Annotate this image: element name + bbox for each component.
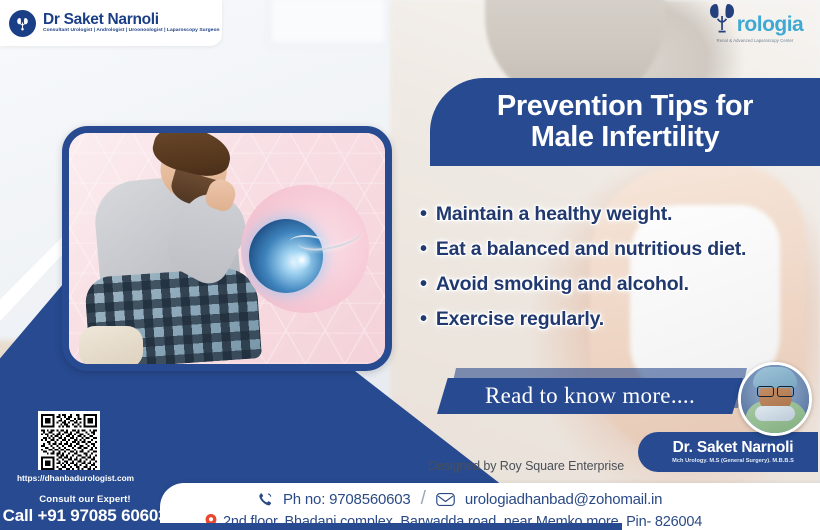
kidney-logo-icon: [9, 10, 36, 37]
doctor-avatar: [738, 362, 812, 436]
bullet-icon: •: [420, 274, 427, 294]
doctor-name: Dr. Saket Narnoli: [673, 440, 794, 456]
surgical-mask-icon: [755, 406, 795, 421]
title-line-2: Male Infertility: [531, 122, 720, 153]
cta-heading: Consult our Expert!: [39, 494, 130, 505]
title-line-1: Prevention Tips for: [497, 91, 753, 122]
sperm-egg-illustration: [241, 185, 369, 313]
doctor-degrees: Mch Urology. M.S (General Surgery). M.B.…: [672, 458, 794, 464]
poster-root: Dr Saket Narnoli Consultant Urologist | …: [0, 0, 820, 530]
doctor-name-badge: Dr. Saket Narnoli Mch Urology. M.S (Gene…: [638, 432, 818, 472]
tip-item: • Exercise regularly.: [420, 308, 820, 331]
bullet-icon: •: [420, 309, 427, 329]
clinic-logo-word: rologia: [737, 16, 804, 35]
tip-item: • Eat a balanced and nutritious diet.: [420, 238, 820, 261]
envelope-icon: [436, 492, 455, 507]
tip-text: Exercise regularly.: [436, 308, 604, 331]
design-credit: Designed by Roy Square Enterprise: [428, 459, 624, 473]
tip-text: Eat a balanced and nutritious diet.: [436, 238, 746, 261]
qr-code[interactable]: [38, 411, 100, 473]
contact-phone[interactable]: Ph no: 9708560603: [283, 491, 411, 508]
hero-photo-card: [62, 126, 392, 371]
clinic-logo: rologia Renal & Advanced Laparoscopy Cen…: [700, 2, 810, 54]
call-cta-box[interactable]: Consult our Expert! Call +91 97085 60603: [0, 490, 170, 530]
tip-item: • Maintain a healthy weight.: [420, 203, 820, 226]
contact-separator: /: [421, 488, 426, 510]
website-url: https://dhanbadurologist.com: [17, 473, 134, 483]
tip-text: Maintain a healthy weight.: [436, 203, 672, 226]
brand-name: Dr Saket Narnoli: [43, 12, 220, 28]
bullet-icon: •: [420, 204, 427, 224]
cta-phone: Call +91 97085 60603: [3, 506, 168, 526]
tips-list: • Maintain a healthy weight. • Eat a bal…: [420, 203, 820, 343]
website-url-pill[interactable]: https://dhanbadurologist.com: [3, 470, 148, 486]
bottom-blue-bar: [152, 523, 622, 530]
read-more-banner[interactable]: Read to know more....: [437, 374, 753, 416]
title-banner: Prevention Tips for Male Infertility: [430, 78, 820, 166]
read-more-label: Read to know more....: [485, 383, 695, 409]
clinic-logo-tagline: Renal & Advanced Laparoscopy Center: [700, 38, 810, 43]
tip-item: • Avoid smoking and alcohol.: [420, 273, 820, 296]
kidneys-icon: [707, 2, 737, 35]
tip-text: Avoid smoking and alcohol.: [436, 273, 689, 296]
contact-email[interactable]: urologiadhanbad@zohomail.in: [465, 491, 662, 508]
brand-subtitle: Consultant Urologist | Andrologist | Uro…: [43, 29, 220, 34]
phone-icon: [256, 491, 273, 508]
glasses-icon: [757, 386, 794, 395]
brand-header-chip: Dr Saket Narnoli Consultant Urologist | …: [0, 0, 222, 46]
bullet-icon: •: [420, 239, 427, 259]
